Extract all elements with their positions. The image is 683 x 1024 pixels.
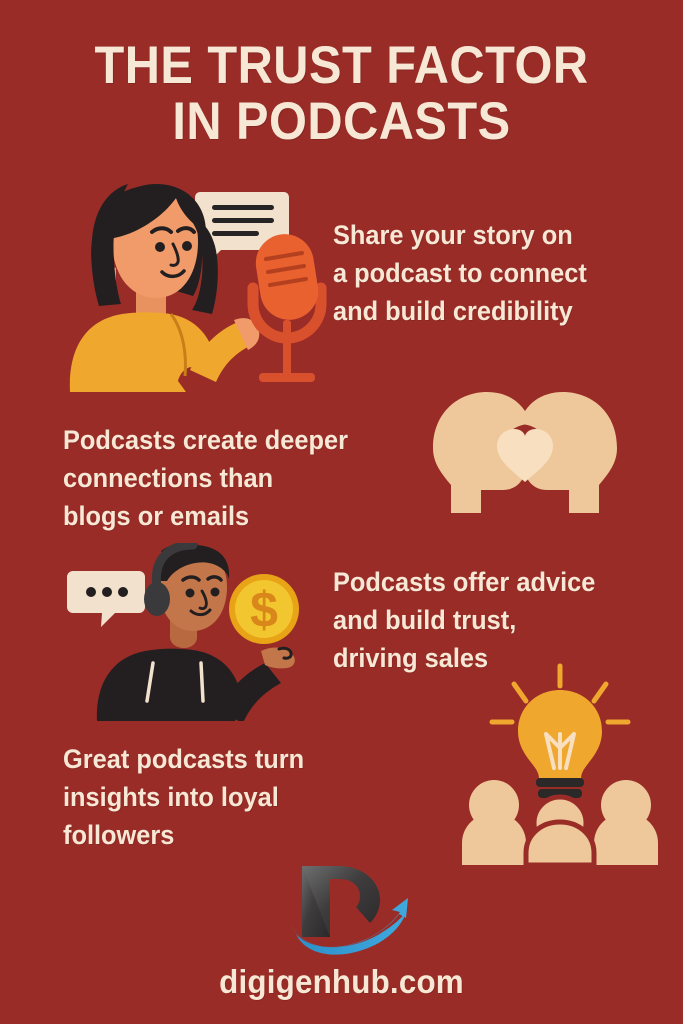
audience-person-left-icon [462, 780, 526, 865]
audience-person-right-icon [594, 780, 658, 865]
dollar-coin-icon: $ [229, 574, 299, 644]
two-heads-heart-icon [415, 388, 635, 546]
point-2-line-2: connections than [63, 459, 392, 497]
digigenhub-logo [0, 860, 683, 965]
audience-person-center-icon [526, 797, 594, 865]
point-text-share-story: Share your story on a podcast to connect… [333, 216, 643, 330]
lightbulb-audience-icon [460, 660, 660, 865]
svg-text:$: $ [250, 582, 278, 638]
point-1-line-3: and build credibility [333, 292, 643, 330]
point-4-line-1: Great podcasts turn [63, 740, 364, 778]
point-1-line-1: Share your story on [333, 216, 643, 254]
point-4-line-3: followers [63, 816, 364, 854]
man-headphones-coin-icon: $ [65, 543, 330, 721]
page-title: THE TRUST FACTOR IN PODCASTS [0, 38, 683, 150]
point-2-line-3: blogs or emails [63, 497, 392, 535]
speech-bubble-dots-icon [67, 571, 145, 627]
title-line-2: IN PODCASTS [27, 94, 655, 150]
point-4-line-2: insights into loyal [63, 778, 364, 816]
point-2-line-1: Podcasts create deeper [63, 421, 392, 459]
site-url-text: digigenhub.com [17, 963, 666, 1001]
infographic-poster: THE TRUST FACTOR IN PODCASTS [0, 0, 683, 1024]
point-3-line-1: Podcasts offer advice [333, 563, 643, 601]
woman-podcaster-microphone-icon [40, 180, 330, 392]
point-3-line-2: and build trust, [333, 601, 643, 639]
point-text-loyal-followers: Great podcasts turn insights into loyal … [63, 740, 364, 854]
point-1-line-2: a podcast to connect [333, 254, 643, 292]
point-text-deeper-connections: Podcasts create deeper connections than … [63, 421, 392, 535]
title-line-1: THE TRUST FACTOR [27, 38, 655, 94]
